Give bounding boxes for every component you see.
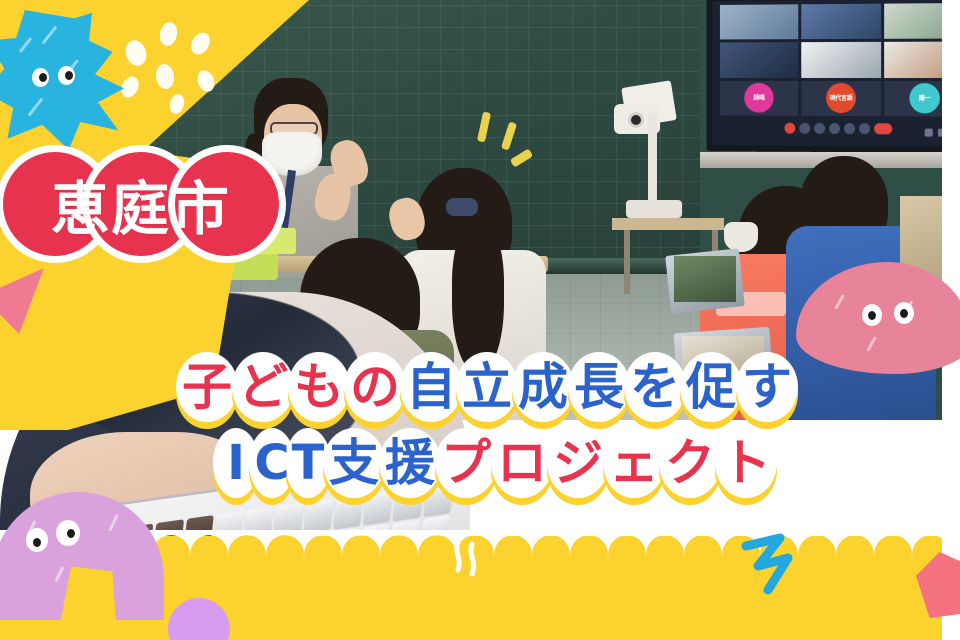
char-glyph: を <box>627 352 683 422</box>
headline-char: T <box>290 428 326 498</box>
char-glyph: 促 <box>683 352 739 422</box>
avatar: 陽一 <box>909 83 940 113</box>
headline-char: ク <box>662 428 718 498</box>
headline-line-2: ICT支援プロジェクト <box>0 428 960 498</box>
record-icon[interactable] <box>784 122 795 133</box>
headline-char: ど <box>235 352 291 422</box>
headline: 子どもの自立成長を促す ICT支援プロジェクト <box>0 352 960 498</box>
headline-char: を <box>627 352 683 422</box>
avatar: 師喝 <box>744 83 773 113</box>
equipment-desk <box>612 218 724 230</box>
headline-char: ト <box>718 428 774 498</box>
char-glyph: T <box>290 428 326 498</box>
headline-char: 促 <box>683 352 739 422</box>
blue-zigzag <box>740 532 810 598</box>
headline-char: C <box>254 428 290 498</box>
video-tile-grid: 師喝 現代言語 陽一 <box>720 3 960 117</box>
headline-char: の <box>347 352 403 422</box>
headline-char: ロ <box>494 428 550 498</box>
headline-char: 援 <box>382 428 438 498</box>
city-badge: 恵庭市 <box>12 152 270 256</box>
document-camera-arm <box>648 112 657 212</box>
char-glyph: 自 <box>403 352 459 422</box>
char-glyph: す <box>739 352 795 422</box>
headline-char: 成 <box>515 352 571 422</box>
eye-icon <box>26 528 48 552</box>
eye-icon <box>58 66 75 85</box>
chat-icon[interactable] <box>844 123 855 134</box>
mic-icon[interactable] <box>799 122 810 133</box>
headline-char: 自 <box>403 352 459 422</box>
more-icon[interactable] <box>859 123 870 134</box>
video-tile <box>801 4 881 40</box>
headline-char: 子 <box>179 352 235 422</box>
face-mask-icon <box>724 222 758 252</box>
student-ponytail <box>452 222 504 372</box>
headline-char: ェ <box>606 428 662 498</box>
headline-line-1: 子どもの自立成長を促す <box>0 352 960 422</box>
camera-icon[interactable] <box>814 122 825 133</box>
char-glyph: の <box>347 352 403 422</box>
banner-canvas: 師喝 現代言語 陽一 <box>0 0 960 640</box>
char-glyph: ロ <box>494 428 550 498</box>
char-glyph: ク <box>662 428 718 498</box>
headline-char: す <box>739 352 795 422</box>
eye-icon <box>32 68 49 87</box>
video-tile <box>720 42 798 77</box>
camera-lens-icon <box>628 112 644 128</box>
char-glyph: C <box>254 428 290 498</box>
white-dots-cluster <box>120 18 240 118</box>
hair-tie <box>446 198 478 216</box>
char-glyph: ジ <box>550 428 606 498</box>
headline-char: プ <box>438 428 494 498</box>
end-call-icon[interactable] <box>874 123 892 134</box>
char-glyph: 長 <box>571 352 627 422</box>
laptop-screen <box>674 256 736 302</box>
eye-icon <box>894 302 914 324</box>
video-tile <box>720 4 798 39</box>
badge-label: 恵庭市 <box>12 152 270 256</box>
video-tile: 師喝 <box>720 81 798 116</box>
video-tile: 現代言語 <box>801 81 881 117</box>
char-glyph: 成 <box>515 352 571 422</box>
char-glyph: 立 <box>459 352 515 422</box>
document-camera-base <box>626 200 682 218</box>
char-glyph: I <box>218 428 254 498</box>
video-conference-display: 師喝 現代言語 陽一 <box>706 0 960 153</box>
eye-icon <box>56 520 80 546</box>
headline-char: 長 <box>571 352 627 422</box>
eye-icon <box>862 304 882 326</box>
avatar: 現代言語 <box>826 83 856 113</box>
participants-icon[interactable] <box>829 122 840 133</box>
desk-leg <box>624 230 630 294</box>
headline-char: 支 <box>326 428 382 498</box>
video-tile <box>801 42 881 78</box>
headline-char: も <box>291 352 347 422</box>
char-glyph: も <box>291 352 347 422</box>
headline-char: I <box>218 428 254 498</box>
char-glyph: ト <box>718 428 774 498</box>
char-glyph: プ <box>438 428 494 498</box>
white-squiggle <box>452 540 482 580</box>
char-glyph: 子 <box>179 352 235 422</box>
headline-char: ジ <box>550 428 606 498</box>
char-glyph: 援 <box>382 428 438 498</box>
char-glyph: 支 <box>326 428 382 498</box>
char-glyph: ど <box>235 352 291 422</box>
settings-icon[interactable] <box>925 129 933 137</box>
call-toolbar[interactable] <box>712 117 960 139</box>
headline-char: 立 <box>459 352 515 422</box>
char-glyph: ェ <box>606 428 662 498</box>
